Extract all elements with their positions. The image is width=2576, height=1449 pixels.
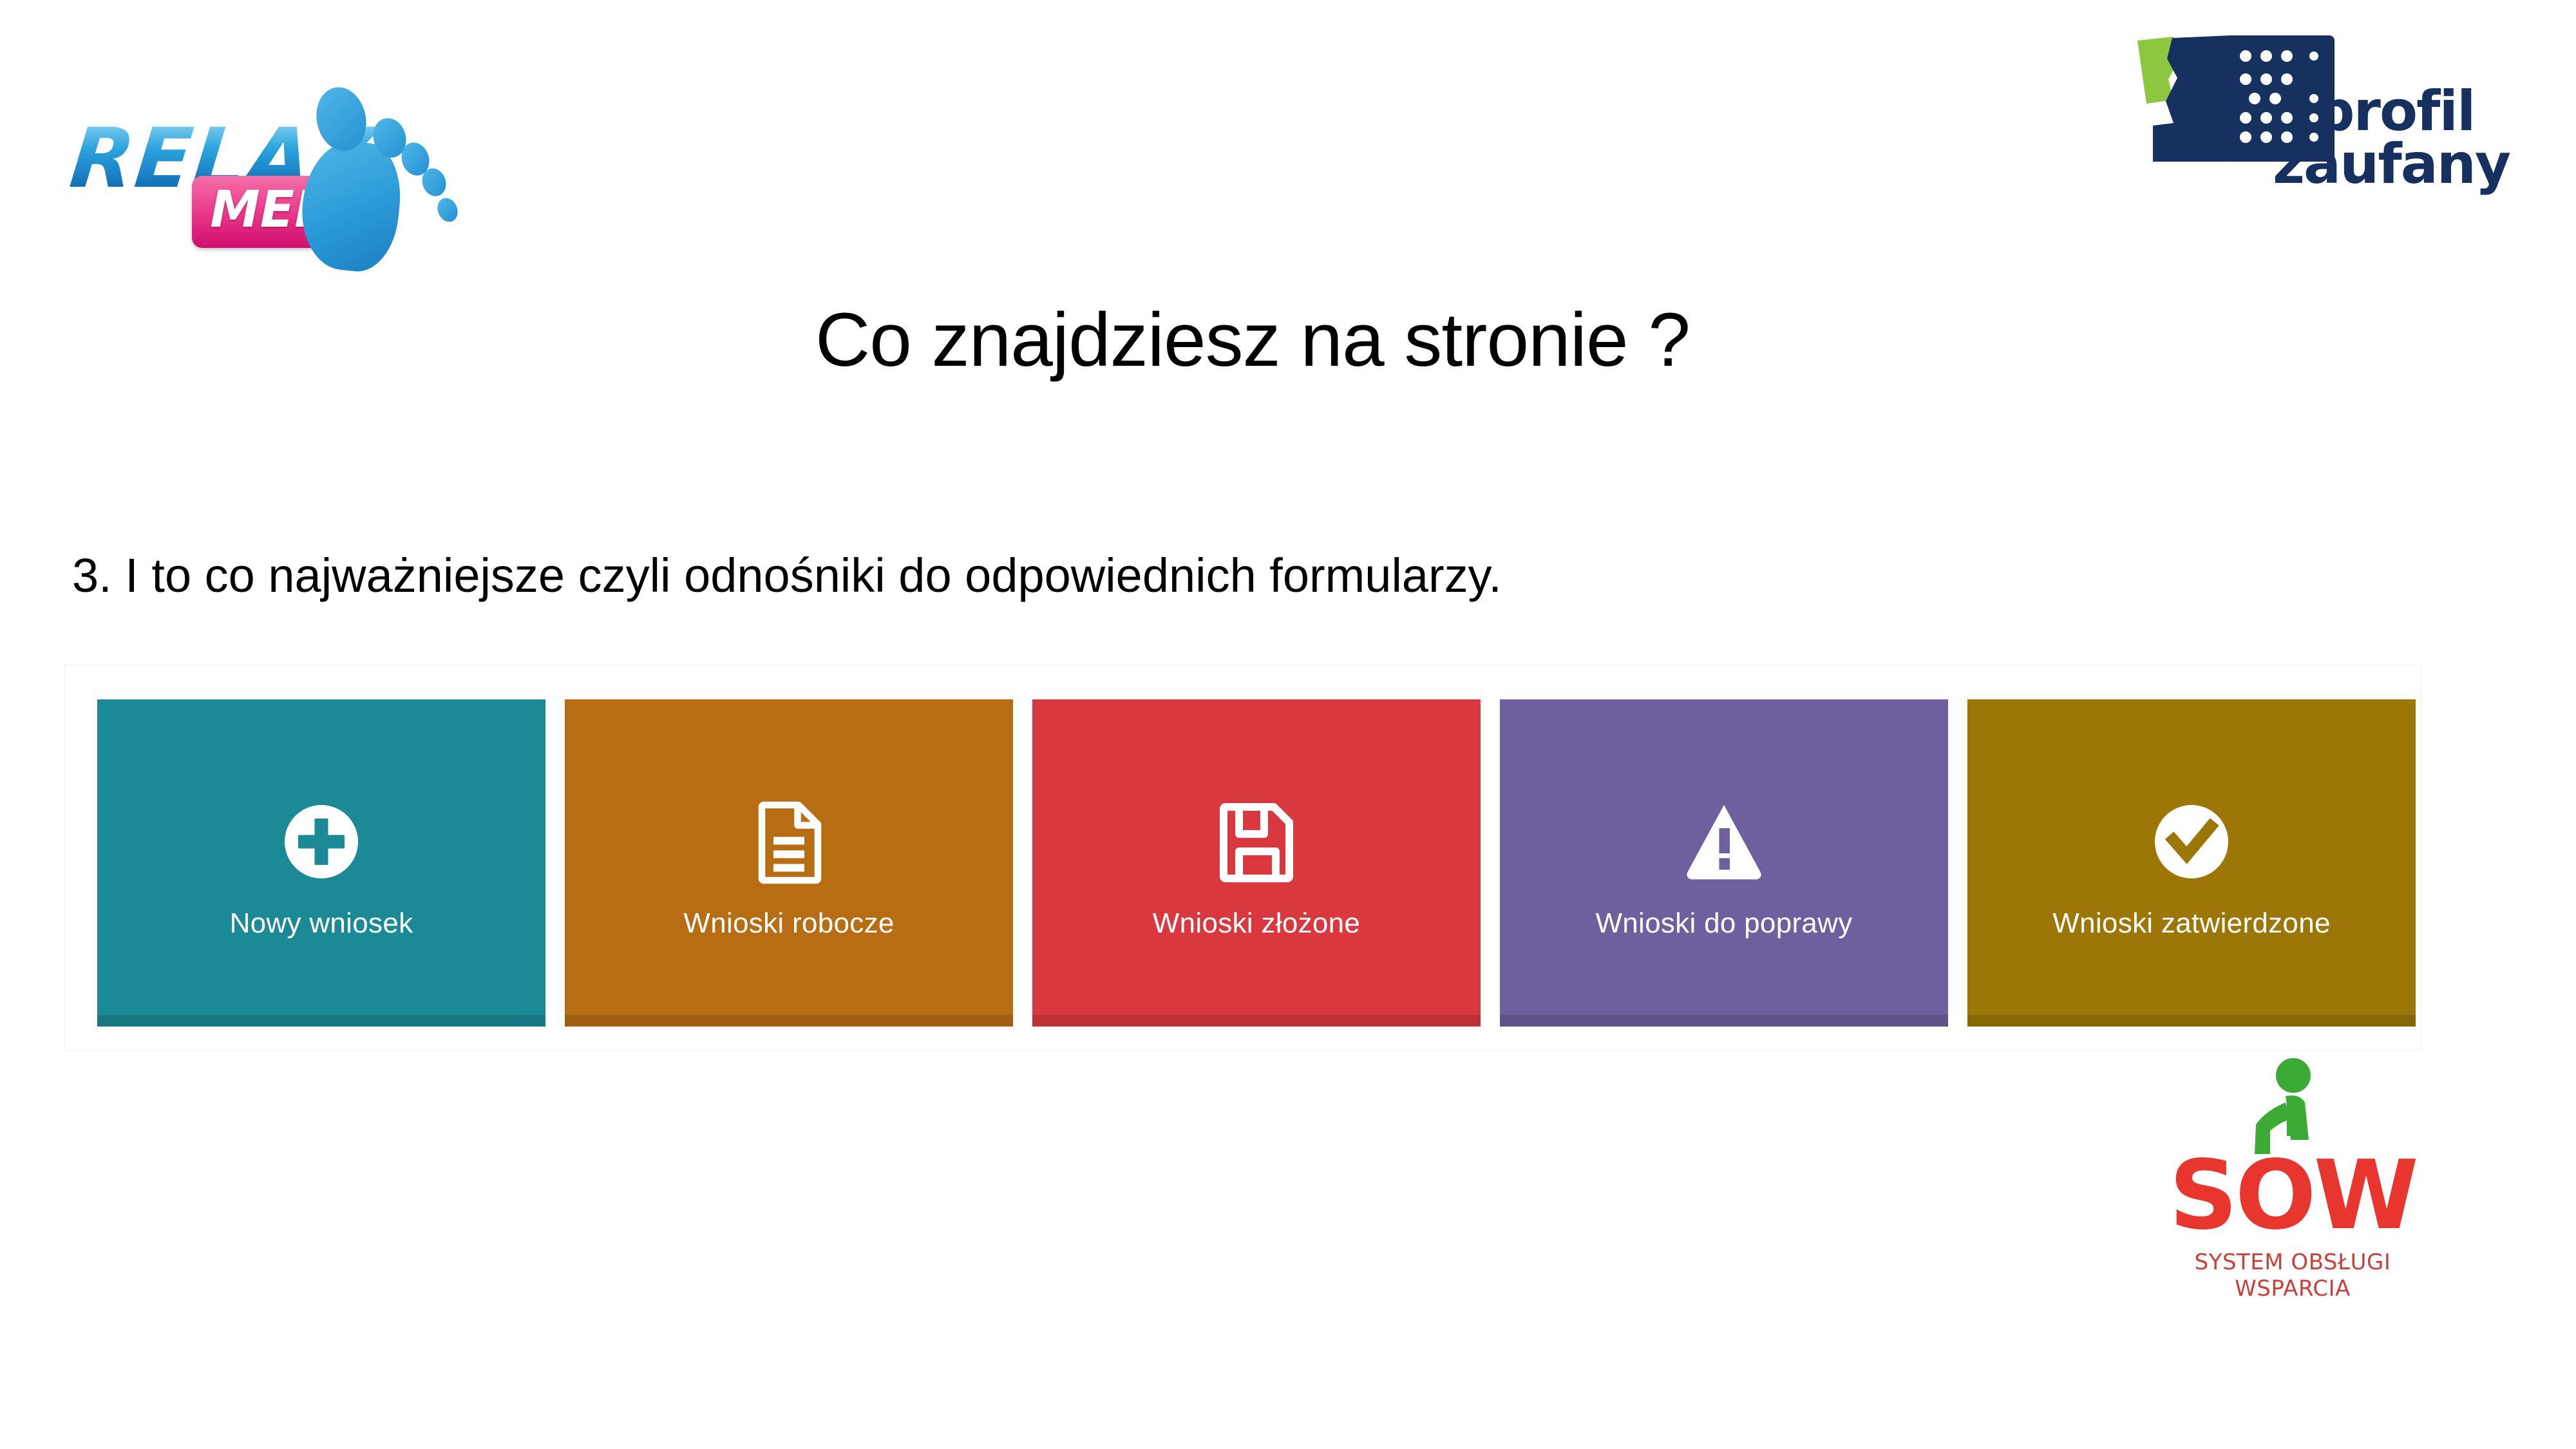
check-circle-icon <box>2137 787 2246 896</box>
tile-label: Wnioski zatwierdzone <box>2052 908 2331 939</box>
profil-zaufany-line1: profil <box>2315 86 2541 138</box>
tile-label: Wnioski do poprawy <box>1595 908 1852 939</box>
tile-wnioski-robocze[interactable]: Wnioski robocze <box>565 699 1013 1027</box>
document-lines-icon <box>734 787 844 896</box>
sow-tagline: SYSTEM OBSŁUGI WSPARCIA <box>2154 1249 2431 1303</box>
warning-triangle-icon <box>1669 787 1779 896</box>
form-links-row: Nowy wniosek Wnioski robocze <box>97 699 2416 1027</box>
profil-zaufany-wordmark: profil zaufany <box>2315 86 2541 138</box>
sow-tagline-line1: SYSTEM OBSŁUGI <box>2154 1249 2431 1276</box>
footprint-icon <box>291 80 465 267</box>
tile-nowy-wniosek[interactable]: Nowy wniosek <box>97 699 545 1027</box>
sow-logo: SOW SYSTEM OBSŁUGI WSPARCIA <box>2154 1056 2431 1352</box>
tile-wnioski-zlozone[interactable]: Wnioski złożone <box>1032 699 1481 1027</box>
sow-acronym: SOW <box>2154 1148 2431 1243</box>
tile-wnioski-zatwierdzone[interactable]: Wnioski zatwierdzone <box>1967 699 2416 1027</box>
tile-label: Nowy wniosek <box>230 908 413 939</box>
footprint-toe-5 <box>434 195 461 225</box>
tile-label: Wnioski robocze <box>683 908 894 939</box>
page-title: Co znajdziesz na stronie ? <box>0 299 2541 381</box>
floppy-save-icon <box>1202 787 1311 896</box>
relax-med-logo: RELAX MED <box>58 35 470 274</box>
form-links-panel: Nowy wniosek Wnioski robocze <box>64 665 2421 1051</box>
profil-zaufany-line2: zaufany <box>2273 138 2510 191</box>
plus-circle-icon <box>267 787 376 896</box>
sow-tagline-line2: WSPARCIA <box>2154 1276 2431 1302</box>
tile-label: Wnioski złożone <box>1153 908 1360 939</box>
slide-body-text: 3. I to co najważniejsze czyli odnośniki… <box>72 547 2197 605</box>
profil-zaufany-logo: profil zaufany <box>2128 29 2541 248</box>
tile-wnioski-do-poprawy[interactable]: Wnioski do poprawy <box>1500 699 1948 1027</box>
footprint-heel-shape <box>296 137 406 276</box>
